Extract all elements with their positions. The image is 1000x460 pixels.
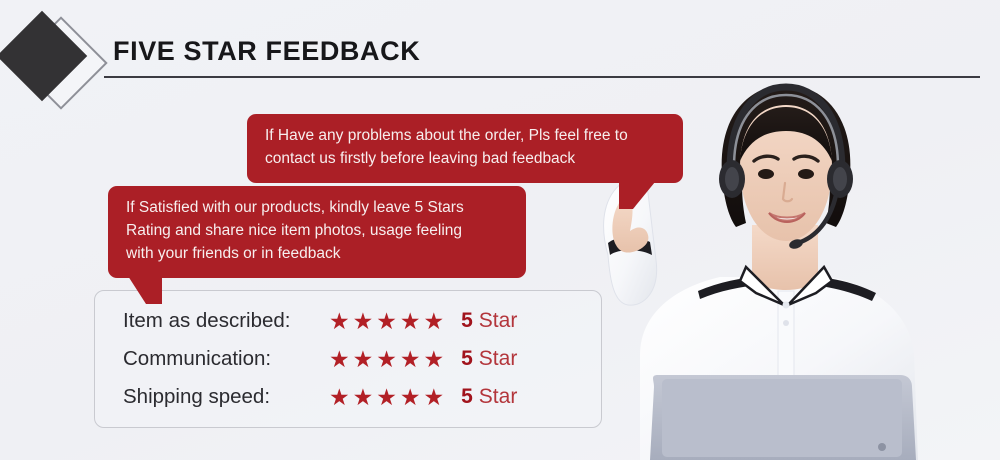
speech-bubble-tail bbox=[128, 276, 162, 304]
rating-unit: Star bbox=[479, 385, 518, 409]
speech-bubble-tail bbox=[619, 182, 655, 209]
star-rating-icon: ★★★★★ bbox=[329, 346, 447, 373]
rating-unit: Star bbox=[479, 309, 518, 333]
rating-score: 5 bbox=[461, 385, 473, 409]
rating-row-item-as-described: Item as described: ★★★★★ 5 Star bbox=[123, 303, 601, 339]
bubble-line: with your friends or in feedback bbox=[126, 243, 508, 266]
rating-row-communication: Communication: ★★★★★ 5 Star bbox=[123, 341, 601, 377]
speech-bubble-order-problem: If Have any problems about the order, Pl… bbox=[247, 114, 683, 183]
ratings-panel: Item as described: ★★★★★ 5 Star Communic… bbox=[94, 290, 602, 428]
bubble-line: Rating and share nice item photos, usage… bbox=[126, 220, 508, 243]
bubble-line: contact us firstly before leaving bad fe… bbox=[265, 148, 665, 171]
page-title: FIVE STAR FEEDBACK bbox=[113, 36, 420, 67]
rating-label: Communication: bbox=[123, 347, 329, 371]
rating-row-shipping-speed: Shipping speed: ★★★★★ 5 Star bbox=[123, 379, 601, 415]
star-rating-icon: ★★★★★ bbox=[329, 308, 447, 335]
rating-unit: Star bbox=[479, 347, 518, 371]
five-star-feedback-banner: FIVE STAR FEEDBACK bbox=[0, 0, 1000, 460]
bubble-line: If Satisfied with our products, kindly l… bbox=[126, 197, 508, 220]
rating-score: 5 bbox=[461, 309, 473, 333]
star-rating-icon: ★★★★★ bbox=[329, 384, 447, 411]
rating-label: Shipping speed: bbox=[123, 385, 329, 409]
rating-score: 5 bbox=[461, 347, 473, 371]
speech-bubble-satisfied-request: If Satisfied with our products, kindly l… bbox=[108, 186, 526, 278]
rating-label: Item as described: bbox=[123, 309, 329, 333]
bubble-line: If Have any problems about the order, Pl… bbox=[265, 125, 665, 148]
